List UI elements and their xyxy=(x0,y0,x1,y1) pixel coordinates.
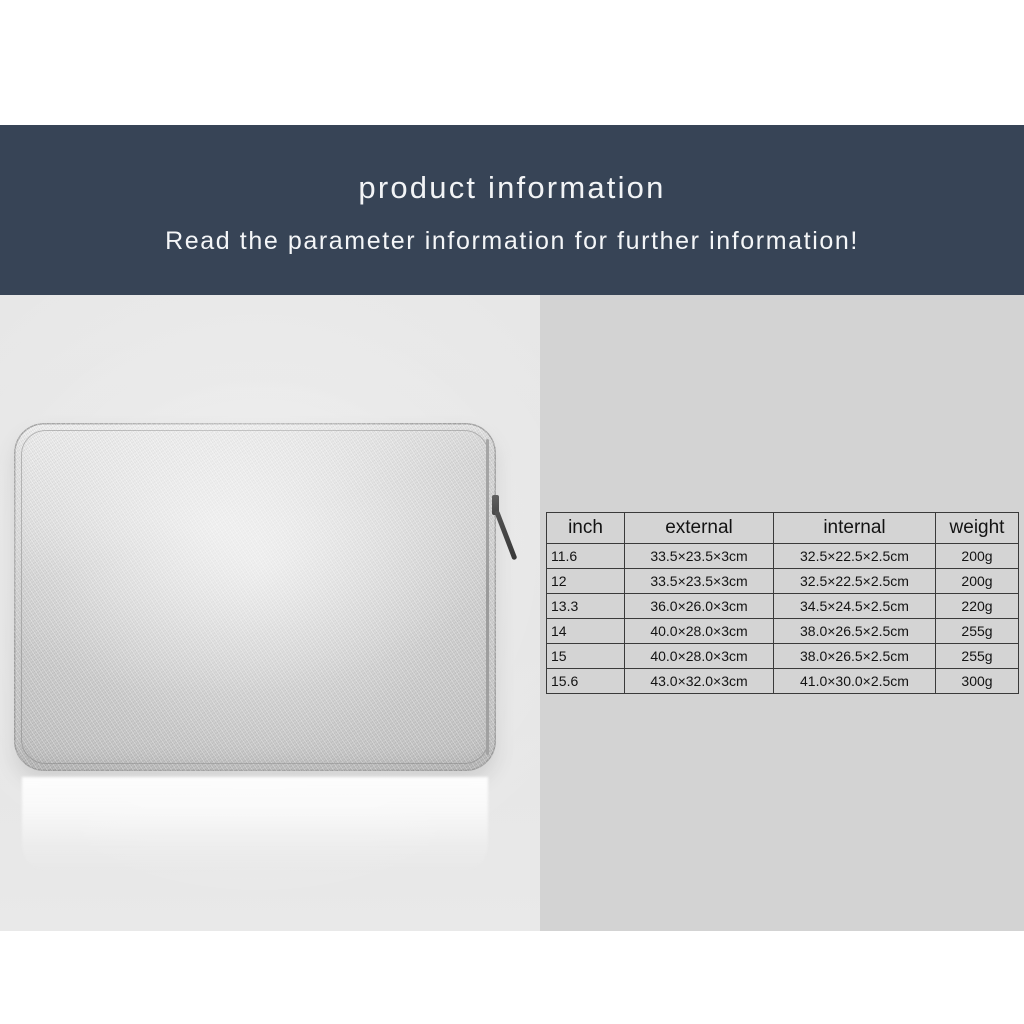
cell-external: 33.5×23.5×3cm xyxy=(625,569,774,594)
cell-inch: 15 xyxy=(547,644,625,669)
cell-weight: 300g xyxy=(936,669,1019,694)
column-header-inch: inch xyxy=(547,513,625,544)
table-row: 15.6 43.0×32.0×3cm 41.0×30.0×2.5cm 300g xyxy=(547,669,1019,694)
zipper-pull-icon xyxy=(492,495,518,559)
table-header-row: inch external internal weight xyxy=(547,513,1019,544)
sleeve-body xyxy=(14,423,496,771)
cell-external: 43.0×32.0×3cm xyxy=(625,669,774,694)
cell-external: 40.0×28.0×3cm xyxy=(625,619,774,644)
cell-inch: 15.6 xyxy=(547,669,625,694)
cell-inch: 12 xyxy=(547,569,625,594)
cell-weight: 200g xyxy=(936,569,1019,594)
content-band: inch external internal weight 11.6 33.5×… xyxy=(0,295,1024,931)
cell-inch: 14 xyxy=(547,619,625,644)
cell-external: 40.0×28.0×3cm xyxy=(625,644,774,669)
zipper-tab xyxy=(494,510,517,560)
zipper-track-icon xyxy=(486,439,489,755)
column-header-weight: weight xyxy=(936,513,1019,544)
product-information-page: product information Read the parameter i… xyxy=(0,0,1024,1024)
cell-inch: 11.6 xyxy=(547,544,625,569)
specification-panel: inch external internal weight 11.6 33.5×… xyxy=(540,295,1024,931)
product-information-banner: product information Read the parameter i… xyxy=(0,125,1024,295)
table-row: 13.3 36.0×26.0×3cm 34.5×24.5×2.5cm 220g xyxy=(547,594,1019,619)
cell-internal: 38.0×26.5×2.5cm xyxy=(774,644,936,669)
table-row: 15 40.0×28.0×3cm 38.0×26.5×2.5cm 255g xyxy=(547,644,1019,669)
cell-weight: 255g xyxy=(936,619,1019,644)
table-row: 14 40.0×28.0×3cm 38.0×26.5×2.5cm 255g xyxy=(547,619,1019,644)
column-header-external: external xyxy=(625,513,774,544)
sleeve-seam xyxy=(21,430,489,764)
cell-internal: 34.5×24.5×2.5cm xyxy=(774,594,936,619)
column-header-internal: internal xyxy=(774,513,936,544)
specification-table: inch external internal weight 11.6 33.5×… xyxy=(546,512,1019,694)
sleeve-reflection xyxy=(22,777,488,873)
cell-external: 36.0×26.0×3cm xyxy=(625,594,774,619)
page-title: product information xyxy=(358,172,665,203)
cell-inch: 13.3 xyxy=(547,594,625,619)
page-subtitle: Read the parameter information for furth… xyxy=(165,229,859,254)
cell-internal: 41.0×30.0×2.5cm xyxy=(774,669,936,694)
laptop-sleeve-image xyxy=(14,423,500,775)
table-row: 12 33.5×23.5×3cm 32.5×22.5×2.5cm 200g xyxy=(547,569,1019,594)
cell-weight: 255g xyxy=(936,644,1019,669)
cell-weight: 200g xyxy=(936,544,1019,569)
cell-weight: 220g xyxy=(936,594,1019,619)
cell-external: 33.5×23.5×3cm xyxy=(625,544,774,569)
cell-internal: 38.0×26.5×2.5cm xyxy=(774,619,936,644)
cell-internal: 32.5×22.5×2.5cm xyxy=(774,569,936,594)
product-photo-panel xyxy=(0,295,540,931)
table-row: 11.6 33.5×23.5×3cm 32.5×22.5×2.5cm 200g xyxy=(547,544,1019,569)
cell-internal: 32.5×22.5×2.5cm xyxy=(774,544,936,569)
